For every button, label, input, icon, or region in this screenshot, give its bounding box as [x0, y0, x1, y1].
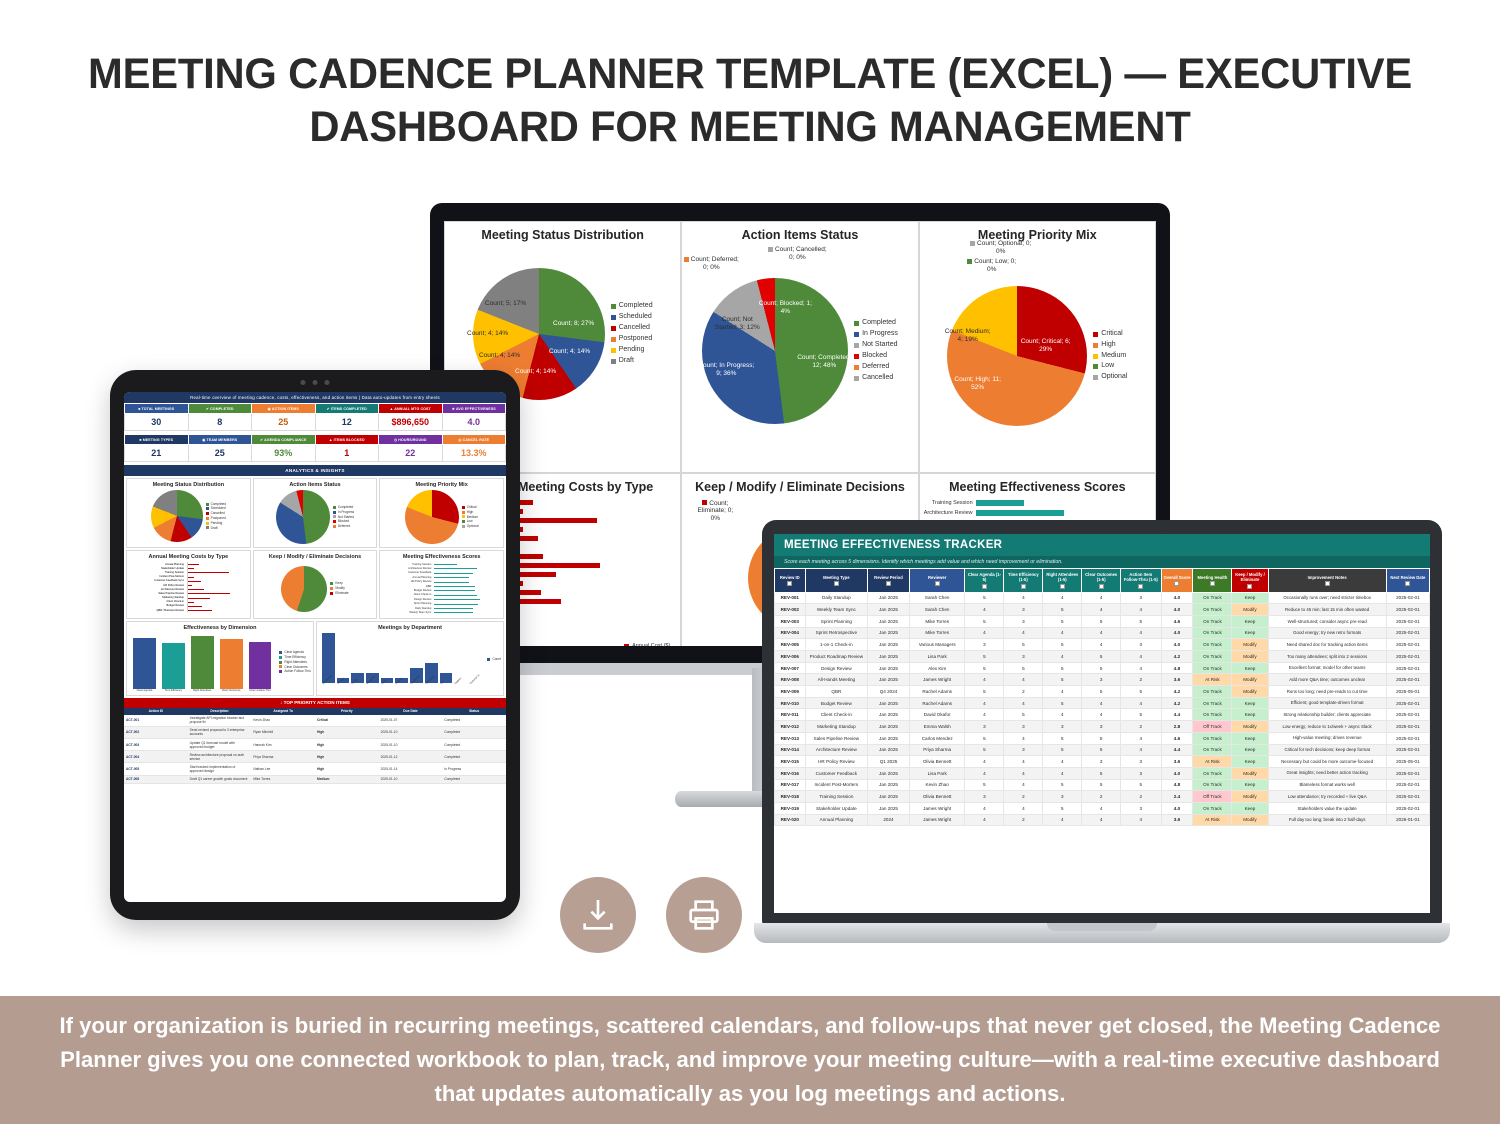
table-row[interactable]: REV-019Stakeholder UpdateJan 2025James W… — [775, 802, 1430, 814]
table-cell: Investigate API migration blocker and pr… — [188, 715, 252, 727]
table-cell: 4.2 — [1161, 686, 1193, 698]
table-cell: REV-009 — [775, 686, 806, 698]
table-cell: Annual Planning — [805, 814, 868, 826]
filter-dropdown-icon[interactable] — [1210, 581, 1215, 586]
table-row[interactable]: REV-020Annual Planning2024James Wright42… — [775, 814, 1430, 826]
table-cell: 5 — [965, 686, 1004, 698]
table-cell: 5 — [1043, 639, 1082, 651]
table-cell: On Track — [1193, 662, 1232, 674]
legend-label: Completed — [862, 318, 896, 329]
table-cell: Sarah Chen — [909, 592, 965, 604]
column-header[interactable]: Status — [442, 708, 506, 715]
table-cell: Q1 2025 — [868, 756, 910, 768]
table-cell: On Track — [1193, 767, 1232, 779]
column-header[interactable]: Reviewer — [909, 569, 965, 593]
chart-legend: Completed Scheduled Cancelled Postponed … — [206, 502, 226, 531]
kpi-label: ◉ TEAM MEMBERS — [188, 435, 252, 445]
table-cell: 4 — [965, 604, 1004, 616]
x-axis-labels: Clear AgendaTime EfficiencyRight Attende… — [129, 689, 275, 692]
table-cell: Keep — [1232, 627, 1268, 639]
chart-legend: Annual Cost ($) — [624, 643, 670, 646]
table-cell: Medium — [315, 775, 379, 783]
x-axis-label: Clear Outcomes — [220, 689, 243, 692]
table-cell: 4 — [1043, 756, 1082, 768]
bar — [976, 500, 1024, 506]
bar-label: Marketing Standup — [129, 596, 187, 599]
pie-action-items — [276, 490, 330, 544]
column-header-label: Improvement Notes — [1308, 575, 1347, 580]
pie-area: Completed In Progress Not Started Blocke… — [686, 278, 913, 424]
table-cell: 4 — [1004, 802, 1043, 814]
column-header[interactable]: Overall Score — [1161, 569, 1193, 593]
table-cell: 4 — [1004, 674, 1043, 686]
table-cell: 5 — [1082, 662, 1121, 674]
chart-title: Meetings by Department — [319, 625, 501, 631]
table-cell: Product Roadmap Review — [805, 651, 868, 663]
filter-dropdown-icon[interactable] — [834, 581, 839, 586]
kpi-label: ✔ AGENDA COMPLIANCE — [252, 435, 316, 445]
laptop-lid: MEETING EFFECTIVENESS TRACKER Score each… — [762, 520, 1442, 925]
table-cell: 3 — [1082, 674, 1121, 686]
bar-chart-body: Training SessionArchitecture ReviewCusto… — [382, 562, 501, 615]
table-cell: 4 — [965, 709, 1004, 721]
table-cell: 4 — [965, 674, 1004, 686]
table-cell: 4 — [1004, 592, 1043, 604]
chart-title: Meeting Priority Mix — [382, 482, 501, 488]
table-cell: Keep — [1232, 756, 1268, 768]
table-cell: At Risk — [1193, 756, 1232, 768]
kpi-value: 4.0 — [442, 414, 506, 431]
table-cell: 4 — [1082, 627, 1121, 639]
pie-meeting-status — [151, 490, 203, 542]
chart-title: Keep / Modify / Eliminate Decisions — [256, 554, 375, 561]
table-cell: Necessary but could be more outcome-focu… — [1268, 756, 1386, 768]
table-cell: 4 — [1121, 697, 1161, 709]
column-header[interactable]: Action Item Follow-Thru (1-5) — [1121, 569, 1161, 593]
column-header-label: Review Period — [874, 575, 903, 580]
legend-label: Annual Cost ($) — [632, 643, 670, 646]
kpi-label: ■ TOTAL MEETINGS — [125, 404, 189, 414]
table-cell: Strong relationship builder; clients app… — [1268, 709, 1386, 721]
legend-label: Cancelled — [619, 323, 650, 334]
table-cell: 4 — [1082, 697, 1121, 709]
bar-label: HR Policy Review — [129, 584, 187, 587]
table-cell: Jan 2025 — [868, 791, 910, 803]
print-badge[interactable] — [666, 877, 742, 953]
table-cell: Training Session — [805, 791, 868, 803]
bar-label: Budget Review — [129, 604, 187, 607]
effectiveness-tracker-table[interactable]: Review IDMeeting TypeReview PeriodReview… — [774, 568, 1430, 826]
filter-dropdown-icon[interactable] — [787, 581, 792, 586]
table-cell: REV-001 — [775, 592, 806, 604]
table-cell: James Wright — [909, 674, 965, 686]
table-cell: Modify — [1232, 639, 1268, 651]
column-bar — [220, 639, 243, 688]
filter-dropdown-icon[interactable] — [1405, 581, 1410, 586]
filter-dropdown-icon[interactable] — [1174, 581, 1179, 586]
table-cell: 2 — [1121, 674, 1161, 686]
column-header-label: Overall Score — [1163, 575, 1190, 580]
table-cell: 5 — [1082, 615, 1121, 627]
column-header[interactable]: Review ID — [775, 569, 806, 593]
filter-dropdown-icon[interactable] — [1099, 584, 1104, 589]
table-cell: REV-013 — [775, 732, 806, 744]
slice-label: Count; Medium; 4; 19% — [942, 328, 994, 344]
mini-chart-action-items: Action Items Status Completed In Progres… — [253, 478, 378, 548]
bar-label: Architecture Review — [924, 510, 976, 516]
slice-label: Count; Not Started; 3; 12% — [714, 316, 760, 332]
bar-label: Daily Standup — [382, 607, 434, 610]
x-axis-label: Action Follow-Thru — [249, 689, 272, 692]
table-cell: 4 — [965, 802, 1004, 814]
table-cell: On Track — [1193, 592, 1232, 604]
bar-label: QBR — [382, 585, 434, 588]
column-header[interactable]: Keep / Modify / Eliminate — [1232, 569, 1268, 593]
table-row[interactable]: ACT-006Draft Q1 career growth goals docu… — [124, 775, 506, 783]
table-cell: 2025-02-01 — [1386, 709, 1429, 721]
table-row[interactable]: REV-012Marketing StandupJan 2025Emma Wal… — [775, 721, 1430, 733]
laptop-device: MEETING EFFECTIVENESS TRACKER Score each… — [762, 520, 1442, 960]
table-row[interactable]: REV-003Sprint PlanningJan 2025Mike Torre… — [775, 615, 1430, 627]
filter-dropdown-icon[interactable] — [1060, 584, 1065, 589]
table-cell: Modify — [1232, 604, 1268, 616]
filter-dropdown-icon[interactable] — [935, 581, 940, 586]
table-row[interactable]: REV-011Client Check-inJan 2025David Okaf… — [775, 709, 1430, 721]
table-cell: 5 — [1082, 732, 1121, 744]
bar-label: Training Session — [924, 500, 976, 506]
column-header-label: Meeting Health — [1198, 575, 1228, 580]
table-cell: Stakeholders value the update — [1268, 802, 1386, 814]
table-cell: Sprint Planning — [805, 615, 868, 627]
column-header-label: Action Item Follow-Thru (1-5) — [1124, 572, 1158, 582]
legend-label: Count — [492, 657, 501, 662]
column-header[interactable]: Action ID — [124, 708, 188, 715]
filter-dropdown-icon[interactable] — [886, 581, 891, 586]
laptop-notch — [1037, 520, 1167, 533]
table-cell: Weekly Team Sync — [805, 604, 868, 616]
table-cell: Update Q1 forecast model with approved b… — [188, 739, 252, 751]
table-row[interactable]: ACT-001Investigate API migration blocker… — [124, 715, 506, 727]
table-cell: 3.6 — [1161, 756, 1193, 768]
bar-label: Incident Post-Mortem — [129, 575, 187, 578]
table-row[interactable]: REV-001Daily StandupJan 2025Sarah Chen54… — [775, 592, 1430, 604]
table-cell: 2025-02-01 — [1386, 662, 1429, 674]
filter-dropdown-icon[interactable] — [1138, 584, 1143, 589]
table-cell: 5 — [1043, 802, 1082, 814]
table-cell: 5 — [1004, 662, 1043, 674]
table-cell: In Progress — [442, 763, 506, 775]
column-header[interactable]: Assigned To — [251, 708, 315, 715]
column-header[interactable]: Meeting Type — [805, 569, 868, 593]
table-cell: 5 — [1121, 779, 1161, 791]
table-cell: Modify — [1232, 721, 1268, 733]
filter-dropdown-icon[interactable] — [982, 584, 987, 589]
table-cell: Low energy; reduce to 1x/week + async Sl… — [1268, 721, 1386, 733]
table-cell: 4.6 — [1161, 732, 1193, 744]
table-cell: 3 — [1082, 756, 1121, 768]
table-cell: 5 — [1121, 615, 1161, 627]
table-cell: On Track — [1193, 779, 1232, 791]
table-cell: Jan 2025 — [868, 604, 910, 616]
table-row[interactable]: REV-002Weekly Team SyncJan 2025Sarah Che… — [775, 604, 1430, 616]
tracker-subtitle: Score each meeting across 5 dimensions. … — [774, 556, 1430, 568]
bar-label: Stakeholder Update — [129, 567, 187, 570]
table-cell: 4 — [1043, 627, 1082, 639]
table-cell: Jan 2025 — [868, 697, 910, 709]
legend-label: Completed — [619, 301, 653, 312]
table-cell: Jan 2025 — [868, 779, 910, 791]
table-cell: 3 — [1121, 592, 1161, 604]
chart-title: Effectiveness by Dimension — [129, 625, 311, 631]
table-cell: Client Check-in — [805, 709, 868, 721]
table-cell: Modify — [1232, 767, 1268, 779]
table-row[interactable]: REV-006Product Roadmap ReviewJan 2025Lis… — [775, 651, 1430, 663]
table-cell: All-Hands Meeting — [805, 674, 868, 686]
download-icon — [578, 895, 618, 935]
table-cell: 3 — [965, 639, 1004, 651]
legend-label: Pending — [619, 345, 645, 356]
slice-label: Count; Completed; 12; 48% — [794, 354, 854, 370]
table-cell: Design Review — [805, 662, 868, 674]
download-badge[interactable] — [560, 877, 636, 953]
table-cell: 5 — [1043, 779, 1082, 791]
table-cell: Mike Torres — [909, 615, 965, 627]
chart-meeting-priority-mix: Meeting Priority Mix Critical High Mediu… — [919, 221, 1156, 473]
table-cell: 3 — [1121, 756, 1161, 768]
chart-title: Meeting Effectiveness Scores — [382, 554, 501, 560]
table-cell: 2026-01-01 — [1386, 814, 1429, 826]
filter-dropdown-icon[interactable] — [1247, 584, 1252, 589]
column-header[interactable]: Due Date — [379, 708, 443, 715]
filter-dropdown-icon[interactable] — [1021, 584, 1026, 589]
table-cell: Keep — [1232, 662, 1268, 674]
table-cell: Excellent format; model for other teams — [1268, 662, 1386, 674]
print-icon — [684, 895, 724, 935]
kpi-value: 93% — [252, 445, 316, 462]
table-cell: REV-008 — [775, 674, 806, 686]
table-cell: 3 — [1121, 767, 1161, 779]
table-cell: 3 — [1004, 615, 1043, 627]
table-cell: Too many attendees; split into 2 session… — [1268, 651, 1386, 663]
table-cell: Jan 2025 — [868, 744, 910, 756]
table-cell: HR Policy Review — [805, 756, 868, 768]
column-bar — [133, 638, 156, 688]
table-cell: High — [315, 739, 379, 751]
bar-label: Sprint Planning — [382, 602, 434, 605]
table-cell: 2 — [1121, 791, 1161, 803]
table-cell: Efficient; good template-driven format — [1268, 697, 1386, 709]
table-cell: Q4 2024 — [868, 686, 910, 698]
table-row[interactable]: ACT-005Start tracked implementation of a… — [124, 763, 506, 775]
table-cell: REV-014 — [775, 744, 806, 756]
table-cell: 5 — [1082, 686, 1121, 698]
table-cell: Good energy; try new retro formats — [1268, 627, 1386, 639]
slice-label: Count; 5; 17% — [485, 300, 526, 308]
bar-row: QBR / Business Review — [129, 608, 248, 612]
table-cell: REV-011 — [775, 709, 806, 721]
tablet-charts-row-2: Annual Meeting Costs by Type Annual Plan… — [124, 550, 506, 621]
column-header[interactable]: Next Review Date — [1386, 569, 1429, 593]
table-cell: 5 — [965, 732, 1004, 744]
chart-legend: Clear Agenda Time Efficiency Right Atten… — [279, 650, 311, 674]
table-cell: 2.8 — [1161, 721, 1193, 733]
table-cell: 4 — [965, 756, 1004, 768]
column-header[interactable]: Clear Outcomes (1-5) — [1082, 569, 1121, 593]
table-cell: REV-005 — [775, 639, 806, 651]
column-header[interactable]: Time Efficiency (1-5) — [1004, 569, 1043, 593]
slice-label: Count; Eliminate; 0; 0% — [692, 500, 738, 523]
kpi-label: ✔ COMPLETED — [188, 404, 252, 414]
table-cell: 4 — [1121, 732, 1161, 744]
table-row[interactable]: REV-0051-on-1 Check-inJan 2025Various Ma… — [775, 639, 1430, 651]
table-row[interactable]: ACT-003Update Q1 forecast model with app… — [124, 739, 506, 751]
table-cell: 2025-01-10 — [379, 726, 443, 738]
table-cell: Draft Q1 career growth goals document — [188, 775, 252, 783]
table-cell: 4.4 — [1161, 709, 1193, 721]
table-cell: 2025-01-07 — [379, 715, 443, 727]
table-cell: Incident Post-Mortem — [805, 779, 868, 791]
table-cell: ACT-002 — [124, 726, 188, 738]
table-cell: Jan 2025 — [868, 767, 910, 779]
table-row[interactable]: REV-009QBRQ4 2024Rachel Adams524554.2On … — [775, 686, 1430, 698]
table-cell: 3 — [1004, 604, 1043, 616]
legend-label: Optional — [467, 524, 479, 529]
table-cell: 5 — [1004, 639, 1043, 651]
table-cell: REV-020 — [775, 814, 806, 826]
table-cell: Marketing Standup — [805, 721, 868, 733]
bar-label: Client Check-in — [129, 600, 187, 603]
bar-label: Annual Planning — [129, 563, 187, 566]
slice-label: Count; Cancelled; 0; 0% — [766, 246, 828, 262]
filter-dropdown-icon[interactable] — [1325, 581, 1330, 586]
chart-legend: Count — [487, 657, 501, 662]
table-cell: 5 — [1082, 744, 1121, 756]
table-cell: Review architecture proposal on auth ser… — [188, 751, 252, 763]
table-cell: 2025-02-01 — [1386, 604, 1429, 616]
column-header[interactable]: Review Period — [868, 569, 910, 593]
table-cell: 5 — [1043, 674, 1082, 686]
table-cell: Sarah Chen — [909, 604, 965, 616]
legend-label: Blocked — [862, 351, 887, 362]
table-cell: 4 — [965, 697, 1004, 709]
column-header[interactable]: Meeting Health — [1193, 569, 1232, 593]
laptop-screen: MEETING EFFECTIVENESS TRACKER Score each… — [774, 534, 1430, 913]
table-cell: 3 — [1004, 721, 1043, 733]
table-row[interactable]: REV-017Incident Post-MortemJan 2025Kevin… — [775, 779, 1430, 791]
table-cell: 3 — [1004, 651, 1043, 663]
table-row[interactable]: ACT-002Send revised proposal to 3 enterp… — [124, 726, 506, 738]
pie-keep-modify — [281, 566, 327, 612]
table-cell: Rachel Adams — [909, 686, 965, 698]
column-header-label: Right Attendees (1-5) — [1046, 572, 1078, 582]
table-cell: Keep — [1232, 709, 1268, 721]
table-cell: 2025-02-01 — [1386, 592, 1429, 604]
table-cell: 4 — [1121, 627, 1161, 639]
column-header[interactable]: Clear Agenda (1-5) — [965, 569, 1004, 593]
table-cell: 4.6 — [1161, 615, 1193, 627]
table-cell: Keep — [1232, 779, 1268, 791]
table-cell: ACT-006 — [124, 775, 188, 783]
table-cell: 2 — [1082, 791, 1121, 803]
table-cell: Off Track — [1193, 791, 1232, 803]
table-cell: On Track — [1193, 697, 1232, 709]
chart-legend: Completed In Progress Not Started Blocke… — [333, 505, 354, 529]
slice-label: Count; Blocked; 1; 4% — [758, 300, 812, 316]
column-header[interactable]: Description — [188, 708, 252, 715]
table-row[interactable]: REV-018Training SessionJan 2025Olivia Be… — [775, 791, 1430, 803]
column-header-label: Review ID — [780, 575, 800, 580]
table-cell: Off Track — [1193, 721, 1232, 733]
table-row[interactable]: REV-013Sales Pipeline ReviewJan 2025Carl… — [775, 732, 1430, 744]
table-row[interactable]: REV-016Customer FeedbackJan 2025Lisa Par… — [775, 767, 1430, 779]
table-cell: Jan 2025 — [868, 802, 910, 814]
table-cell: 4.0 — [1161, 604, 1193, 616]
table-cell: 3.6 — [1161, 814, 1193, 826]
table-row[interactable]: REV-015HR Policy ReviewQ1 2025Olivia Ben… — [775, 756, 1430, 768]
table-cell: Completed — [442, 739, 506, 751]
column-header[interactable]: Right Attendees (1-5) — [1043, 569, 1082, 593]
kpi-row-1: ■ TOTAL MEETINGS✔ COMPLETED◉ ACTION ITEM… — [124, 403, 506, 431]
legend-label: Low — [1101, 361, 1114, 372]
table-cell: 3.6 — [1161, 674, 1193, 686]
table-cell: 3 — [1121, 802, 1161, 814]
bar-label: Training Session — [382, 563, 434, 566]
table-cell: 5 — [1043, 604, 1082, 616]
kpi-value: 22 — [379, 445, 443, 462]
column-header[interactable]: Improvement Notes — [1268, 569, 1386, 593]
bar-label: Architecture Review — [382, 567, 434, 570]
table-row[interactable]: REV-007Design ReviewJan 2025Alex Kim5555… — [775, 662, 1430, 674]
table-cell: At Risk — [1193, 674, 1232, 686]
table-cell: 4 — [1082, 814, 1121, 826]
bar-label: Budget Review — [382, 589, 434, 592]
kpi-value: 25 — [188, 445, 252, 462]
table-cell: Alex Kim — [909, 662, 965, 674]
slice-label: Count; In Progress; 9; 36% — [698, 362, 754, 378]
table-cell: 4 — [1082, 709, 1121, 721]
table-cell: Completed — [442, 726, 506, 738]
table-cell: Need shared doc for tracking action item… — [1268, 639, 1386, 651]
table-cell: REV-012 — [775, 721, 806, 733]
table-cell: 4.0 — [1161, 592, 1193, 604]
kpi-value: 8 — [188, 414, 252, 431]
bar-row: Weekly Team Sync — [382, 610, 501, 614]
table-row[interactable]: REV-014Architecture ReviewJan 2025Priya … — [775, 744, 1430, 756]
column-header-label: Time Efficiency (1-5) — [1008, 572, 1039, 582]
table-cell: 2025-02-01 — [1386, 744, 1429, 756]
table-cell: 5 — [1121, 686, 1161, 698]
table-cell: Critical — [315, 715, 379, 727]
mini-chart-effectiveness-dimension: Effectiveness by Dimension Clear AgendaT… — [126, 621, 314, 696]
legend-label: Postponed — [619, 334, 652, 345]
column-header[interactable]: Priority — [315, 708, 379, 715]
table-cell: 4 — [1043, 651, 1082, 663]
table-row[interactable]: ACT-004Review architecture proposal on a… — [124, 751, 506, 763]
mini-chart-keep-modify: Keep / Modify / Eliminate Decisions Keep… — [253, 550, 378, 619]
table-row[interactable]: REV-010Budget ReviewJan 2025Rachel Adams… — [775, 697, 1430, 709]
table-cell: Start tracked implementation of approved… — [188, 763, 252, 775]
table-row[interactable]: REV-008All-Hands MeetingJan 2025James Wr… — [775, 674, 1430, 686]
table-cell: 5 — [1082, 651, 1121, 663]
table-row[interactable]: REV-004Sprint RetrospectiveJan 2025Mike … — [775, 627, 1430, 639]
table-cell: Mike Torres — [909, 627, 965, 639]
table-cell: Jan 2025 — [868, 674, 910, 686]
table-cell: On Track — [1193, 686, 1232, 698]
table-cell: 4 — [1121, 604, 1161, 616]
bar — [510, 518, 597, 523]
table-cell: 2 — [1121, 721, 1161, 733]
table-cell: Rachel Adams — [909, 697, 965, 709]
